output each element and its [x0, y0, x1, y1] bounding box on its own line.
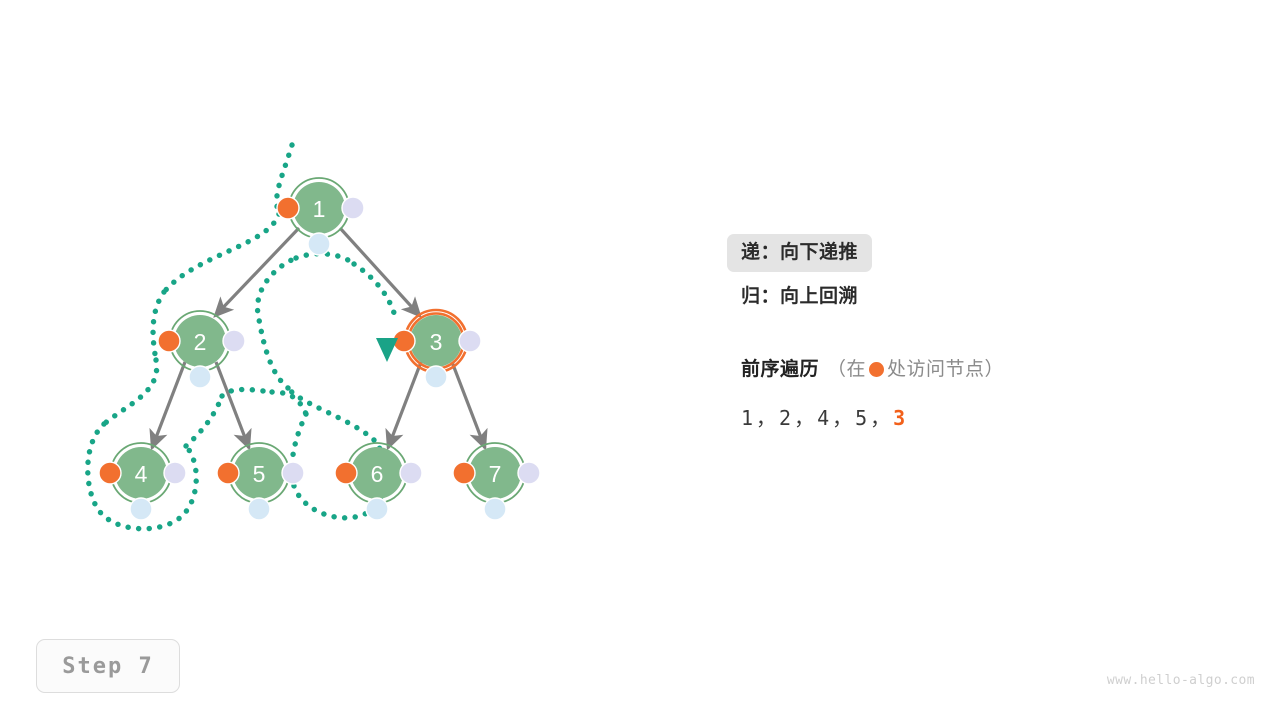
- node-4-bottom-dot: [130, 498, 152, 520]
- node-7-bottom-dot: [484, 498, 506, 520]
- site-watermark: www.hello-algo.com: [1107, 673, 1255, 688]
- node-6-visit-dot: [335, 462, 357, 484]
- node-2-visit-dot: [158, 330, 180, 352]
- node-1-right-dot: [342, 197, 364, 219]
- tree-node-6[interactable]: 6: [335, 443, 422, 520]
- edge-1-3: [340, 228, 420, 316]
- node-4-label: 4: [135, 461, 148, 487]
- node-6-right-dot: [400, 462, 422, 484]
- node-2-bottom-dot: [189, 366, 211, 388]
- node-5-label: 5: [253, 461, 266, 487]
- legend-backtrack-label: 归：向上回溯: [727, 278, 872, 316]
- node-5-bottom-dot: [248, 498, 270, 520]
- node-2-right-dot: [223, 330, 245, 352]
- step-badge: Step 7: [36, 639, 180, 693]
- path-segment-n4-back: [186, 396, 222, 446]
- node-1-visit-dot: [277, 197, 299, 219]
- tree-node-3[interactable]: 3: [393, 310, 481, 388]
- node-3-bottom-dot: [425, 366, 447, 388]
- traversal-title-suffix: 处访问节点）: [887, 359, 1004, 380]
- node-4-visit-dot: [99, 462, 121, 484]
- edge-2-4: [152, 362, 185, 448]
- traversal-title: 前序遍历（在处访问节点）: [727, 360, 1247, 379]
- node-6-bottom-dot: [366, 498, 388, 520]
- traversal-title-strong: 前序遍历: [741, 359, 819, 380]
- edge-1-2: [215, 228, 299, 316]
- node-5-visit-dot: [217, 462, 239, 484]
- path-segment-root-to-n2: [164, 214, 279, 292]
- node-3-right-dot: [459, 330, 481, 352]
- traversal-sequence-current: 3: [893, 406, 908, 430]
- path-segment-n2-to-n5: [272, 392, 306, 414]
- legend-recurse-row: 递：向下递推: [727, 234, 1247, 272]
- node-7-right-dot: [518, 462, 540, 484]
- edge-3-7: [452, 362, 485, 448]
- legend-recurse-label: 递：向下递推: [727, 234, 872, 272]
- node-2-label: 2: [194, 329, 207, 355]
- watermark-text: www.hello-algo.com: [1107, 673, 1255, 688]
- visit-marker-dot-icon: [869, 362, 884, 377]
- traversal-sequence: 1，2，4，5，3: [727, 402, 1247, 431]
- legend-backtrack-row: 归：向上回溯: [727, 278, 1247, 316]
- step-label: Step 7: [62, 654, 153, 679]
- binary-tree-diagram: 1 2 3 4: [0, 0, 680, 620]
- current-node-pointer-triangle: [376, 338, 398, 362]
- tree-node-2[interactable]: 2: [158, 311, 245, 388]
- traversal-sequence-visited: 1，2，4，5，: [741, 406, 893, 430]
- node-1-label: 1: [313, 196, 326, 222]
- tree-node-1[interactable]: 1: [277, 178, 364, 255]
- node-7-label: 7: [489, 461, 502, 487]
- node-7-visit-dot: [453, 462, 475, 484]
- node-6-label: 6: [371, 461, 384, 487]
- node-4-right-dot: [164, 462, 186, 484]
- node-5-right-dot: [282, 462, 304, 484]
- path-segment-n2-right-up: [258, 258, 296, 388]
- path-segment-root-bottom: [296, 254, 354, 264]
- tree-node-4[interactable]: 4: [99, 443, 186, 520]
- path-segment-root-to-n3: [354, 264, 396, 320]
- node-1-bottom-dot: [308, 233, 330, 255]
- visualization-canvas: 1 2 3 4: [0, 0, 1280, 720]
- node-3-label: 3: [430, 329, 443, 355]
- edge-3-6: [388, 362, 421, 448]
- path-segment-n5-back: [288, 388, 374, 440]
- traversal-title-prefix: （在: [827, 359, 866, 380]
- legend-panel: 递：向下递推 归：向上回溯 前序遍历（在处访问节点） 1，2，4，5，3: [727, 234, 1247, 431]
- tree-node-7[interactable]: 7: [453, 443, 540, 520]
- path-segment-n2-to-n4: [104, 360, 157, 424]
